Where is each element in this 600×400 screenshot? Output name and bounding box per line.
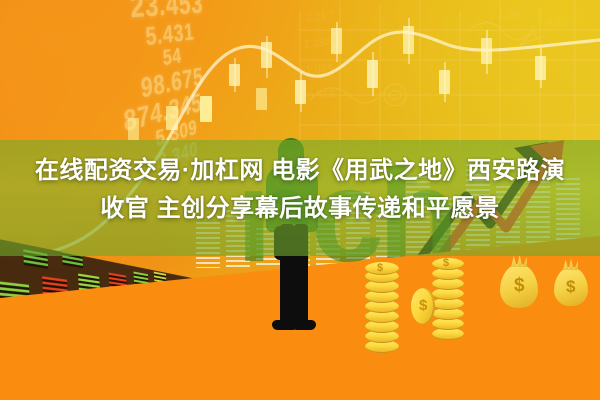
dollar-sign: $ — [566, 277, 575, 297]
dollar-sign: $ — [514, 275, 525, 297]
headline-line-1: 在线配资交易·加杠网 电影《用武之地》西安路演 — [0, 152, 600, 190]
money-bag-2: $ — [552, 256, 590, 306]
headline-text: 在线配资交易·加杠网 电影《用武之地》西安路演 收官 主创分享幕后故事传递和平愿… — [0, 152, 600, 228]
banner-image: 3.217 2.188 1.094 0.512 1.09 4.73 0.24 1… — [0, 0, 600, 400]
headline-line-2: 收官 主创分享幕后故事传递和平愿景 — [0, 190, 600, 228]
money-bag-1: $ — [498, 252, 540, 308]
